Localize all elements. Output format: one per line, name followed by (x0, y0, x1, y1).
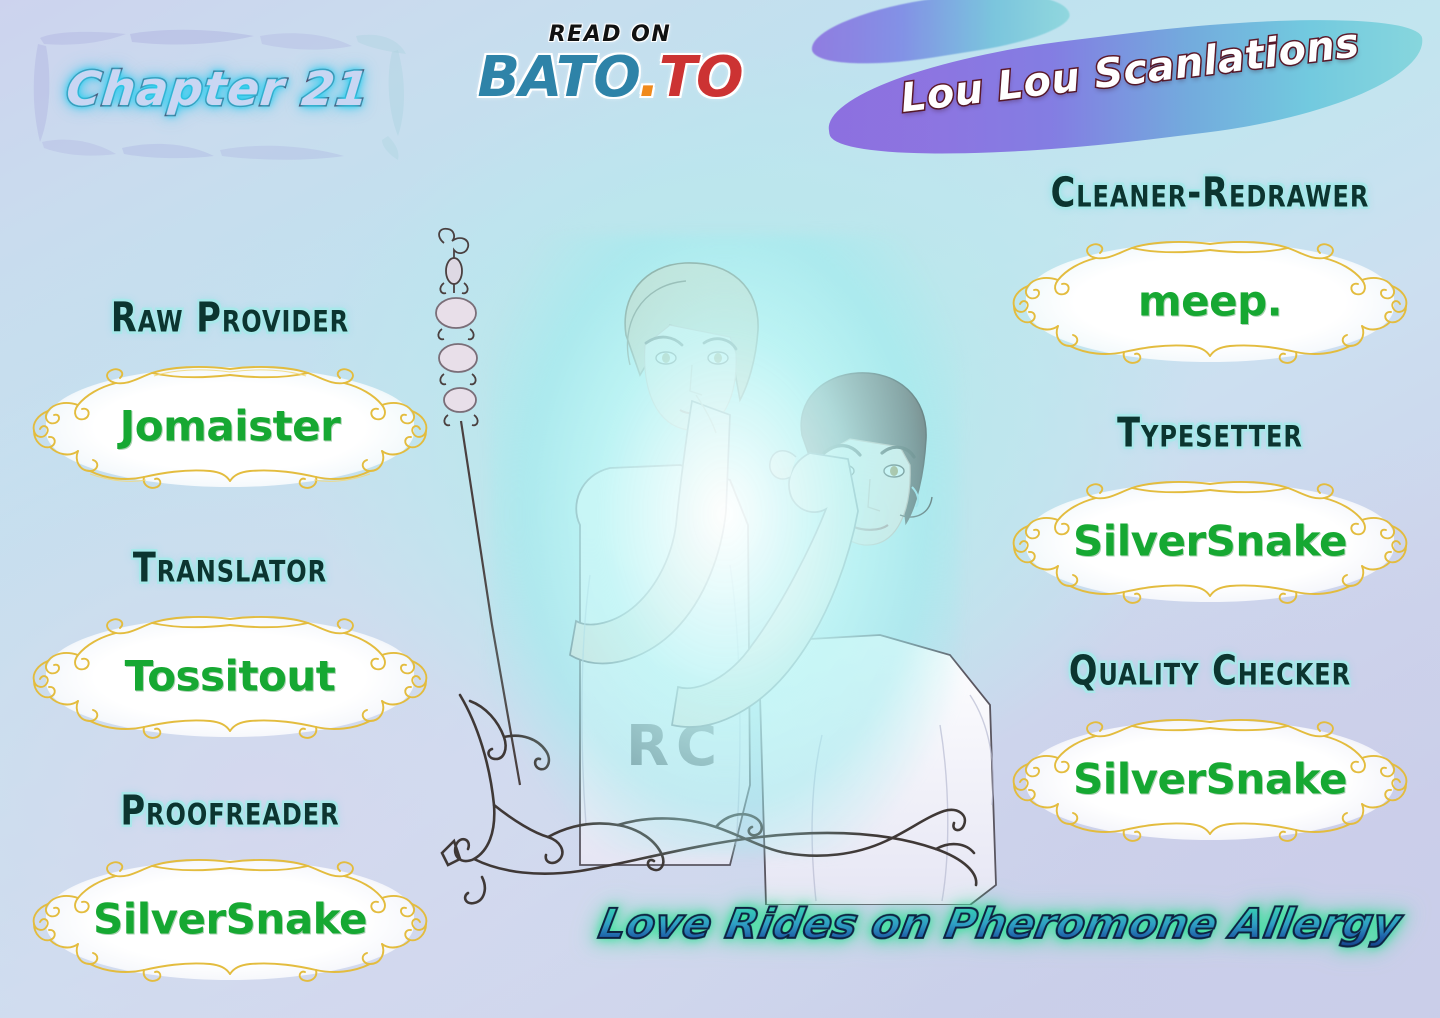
cover-illustration: R C (430, 225, 1010, 905)
credit-name-plate: Tossitout (20, 613, 440, 741)
chapter-label: Chapter 21 (15, 62, 421, 117)
credit-role-label: Quality Checker (1008, 648, 1411, 695)
batoto-wordmark: BATO.TO (470, 49, 750, 108)
credit-name-label: SilverSnake (1000, 517, 1420, 566)
credit-name-label: SilverSnake (20, 895, 440, 944)
character-glow (490, 235, 960, 855)
series-title: Love Rides on Pheromone Allergy (584, 900, 1417, 948)
credit-role-label: Proofreader (28, 788, 431, 835)
credit-block-proofreader: Proofreader (20, 788, 440, 984)
batoto-dot: . (639, 45, 659, 110)
batoto-to-text: TO (659, 45, 743, 110)
credit-name-label: meep. (1000, 277, 1420, 326)
credit-block-translator: Translator (20, 545, 440, 741)
credit-name-label: Jomaister (20, 402, 440, 451)
credit-name-plate: meep. (1000, 238, 1420, 366)
credit-role-label: Typesetter (1008, 410, 1411, 457)
credit-name-label: SilverSnake (1000, 755, 1420, 804)
batoto-logo[interactable]: READ ON BATO.TO (470, 22, 750, 108)
credit-block-raw-provider: Raw Provider (20, 295, 440, 491)
credit-name-label: Tossitout (20, 652, 440, 701)
credit-name-plate: Jomaister (20, 363, 440, 491)
credit-role-label: Raw Provider (28, 295, 431, 342)
credit-name-plate: SilverSnake (20, 856, 440, 984)
credit-block-typesetter: Typesetter (1000, 410, 1420, 606)
credit-role-label: Cleaner-Redrawer (1008, 170, 1411, 217)
credit-block-cleaner-redrawer: Cleaner-Redrawer (1000, 170, 1420, 366)
read-on-label: READ ON (470, 22, 750, 47)
credit-block-quality-checker: Quality Checker (1000, 648, 1420, 844)
scanlation-group-banner: Lou Lou Scanlations (800, 0, 1440, 160)
chapter-badge: Chapter 21 (18, 10, 418, 170)
credit-role-label: Translator (28, 545, 431, 592)
credit-name-plate: SilverSnake (1000, 716, 1420, 844)
batoto-bato-text: BATO (477, 45, 638, 110)
credit-name-plate: SilverSnake (1000, 478, 1420, 606)
